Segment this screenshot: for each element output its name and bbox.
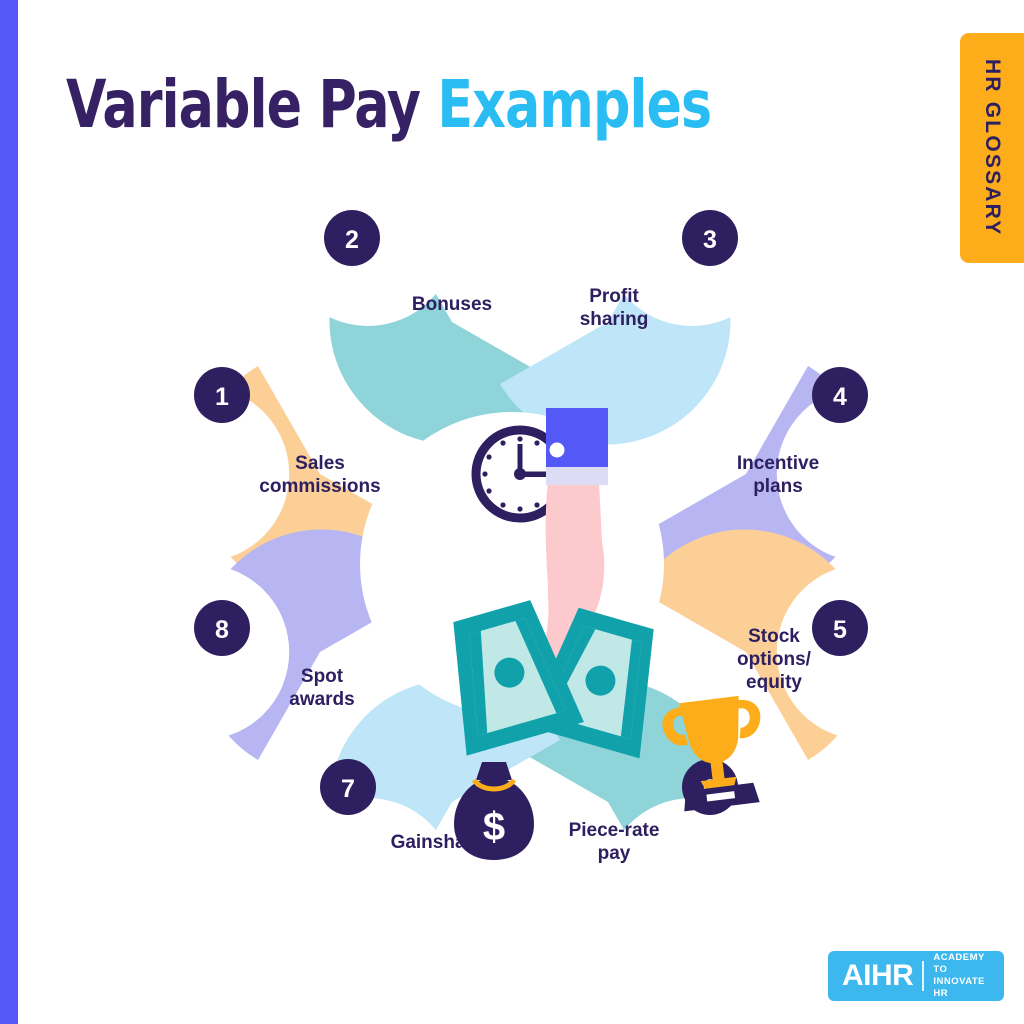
petal-5-number: 5 (833, 616, 847, 644)
petal-3-profit-sharing[interactable]: Profitsharing 3 (500, 210, 738, 445)
hr-glossary-badge-label: HR GLOSSARY (980, 59, 1004, 236)
aihr-logo: AIHR ACADEMY TO INNOVATE HR (828, 951, 1004, 1001)
petal-4-number: 4 (833, 383, 847, 411)
left-accent-stripe (0, 0, 18, 1024)
aihr-logo-tagline: ACADEMY TO INNOVATE HR (933, 952, 990, 1001)
hr-glossary-badge: HR GLOSSARY (960, 33, 1024, 263)
petal-7-number: 7 (341, 775, 355, 803)
page-title-accent: Examples (437, 66, 711, 143)
svg-text:$: $ (483, 805, 505, 849)
page-title-primary: Variable Pay (66, 66, 420, 143)
aihr-logo-tagline-line2: INNOVATE HR (933, 976, 985, 999)
aihr-logo-tagline-line1: ACADEMY TO (933, 952, 984, 975)
page-title: Variable Pay Examples (66, 72, 711, 138)
petal-3-number: 3 (703, 226, 717, 254)
petal-2-number: 2 (345, 226, 359, 254)
petal-2-label: Bonuses (412, 294, 492, 315)
petal-8-number: 8 (215, 616, 229, 644)
aihr-logo-divider (922, 961, 924, 991)
petal-1-number: 1 (215, 383, 229, 411)
variable-pay-flower-diagram: Salescommissions 1 Bonuses 2 Profitshari… (96, 182, 928, 942)
aihr-logo-mark: AIHR (842, 961, 913, 991)
